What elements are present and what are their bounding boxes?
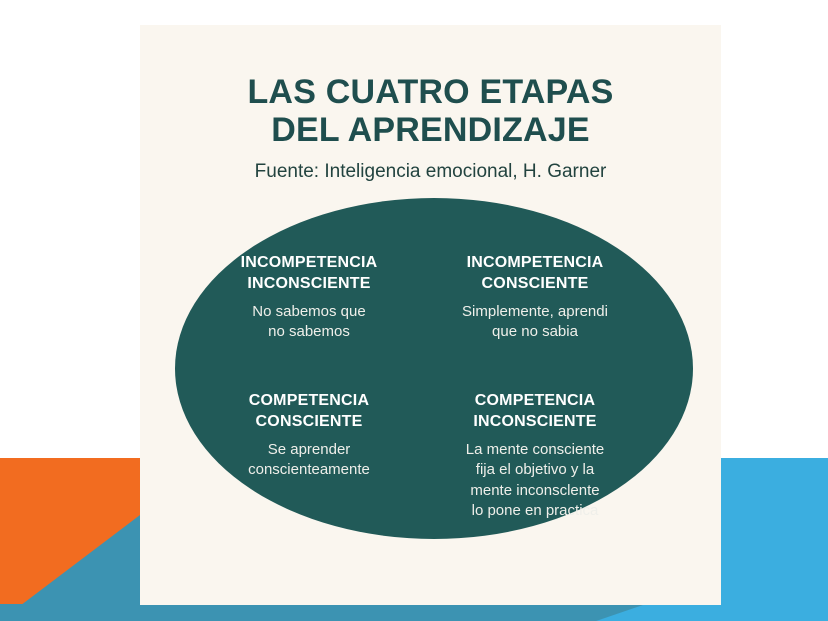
quadrant-desc-line-2: que no sabia (431, 322, 639, 342)
quadrant-title: INCOMPETENCIA INCONSCIENTE (205, 252, 413, 294)
quadrant-description: Se aprender conscienteamente (205, 440, 413, 481)
quadrant-desc-line-1: No sabemos que (205, 302, 413, 322)
quadrant-desc-line-2: no sabemos (205, 322, 413, 342)
four-stages-ellipse: INCOMPETENCIA INCONSCIENTE No sabemos qu… (175, 198, 693, 539)
quadrant-title-line-1: INCOMPETENCIA (205, 252, 413, 273)
quadrant-title-line-1: INCOMPETENCIA (431, 252, 639, 273)
quadrant-competencia-consciente: COMPETENCIA CONSCIENTE Se aprender consc… (205, 390, 413, 481)
quadrant-title-line-2: CONSCIENTE (431, 273, 639, 294)
quadrant-title-line-2: INCONSCIENTE (205, 273, 413, 294)
quadrant-desc-line-1: Se aprender (205, 440, 413, 460)
quadrant-description: Simplemente, aprendi que no sabia (431, 302, 639, 343)
quadrant-incompetencia-consciente: INCOMPETENCIA CONSCIENTE Simplemente, ap… (431, 252, 639, 343)
quadrant-desc-line-1: Simplemente, aprendi (431, 302, 639, 322)
quadrant-description: La mente consciente fija el objetivo y l… (431, 440, 639, 521)
quadrant-title-line-1: COMPETENCIA (205, 390, 413, 411)
quadrant-title-line-2: INCONSCIENTE (431, 411, 639, 432)
quadrant-title: INCOMPETENCIA CONSCIENTE (431, 252, 639, 294)
quadrant-desc-line-4: lo pone en practica (431, 501, 639, 521)
quadrant-desc-line-3: mente inconsclente (431, 481, 639, 501)
quadrant-desc-line-1: La mente consciente (431, 440, 639, 460)
quadrant-description: No sabemos que no sabemos (205, 302, 413, 343)
quadrant-incompetencia-inconsciente: INCOMPETENCIA INCONSCIENTE No sabemos qu… (205, 252, 413, 343)
page-subtitle: Fuente: Inteligencia emocional, H. Garne… (140, 161, 721, 184)
page-title-line-2: DEL APRENDIZAJE (140, 111, 721, 149)
quadrant-group: INCOMPETENCIA INCONSCIENTE No sabemos qu… (175, 198, 693, 539)
quadrant-title: COMPETENCIA CONSCIENTE (205, 390, 413, 432)
quadrant-desc-line-2: conscienteamente (205, 460, 413, 480)
quadrant-title-line-1: COMPETENCIA (431, 390, 639, 411)
quadrant-title: COMPETENCIA INCONSCIENTE (431, 390, 639, 432)
quadrant-title-line-2: CONSCIENTE (205, 411, 413, 432)
quadrant-competencia-inconsciente: COMPETENCIA INCONSCIENTE La mente consci… (431, 390, 639, 521)
slide-canvas: LAS CUATRO ETAPAS DEL APRENDIZAJE Fuente… (0, 0, 828, 621)
content-card: LAS CUATRO ETAPAS DEL APRENDIZAJE Fuente… (140, 25, 721, 605)
quadrant-desc-line-2: fija el objetivo y la (431, 460, 639, 480)
decorative-light-blue-block (721, 458, 828, 621)
heading-block: LAS CUATRO ETAPAS DEL APRENDIZAJE Fuente… (140, 73, 721, 184)
page-title-line-1: LAS CUATRO ETAPAS (140, 73, 721, 111)
